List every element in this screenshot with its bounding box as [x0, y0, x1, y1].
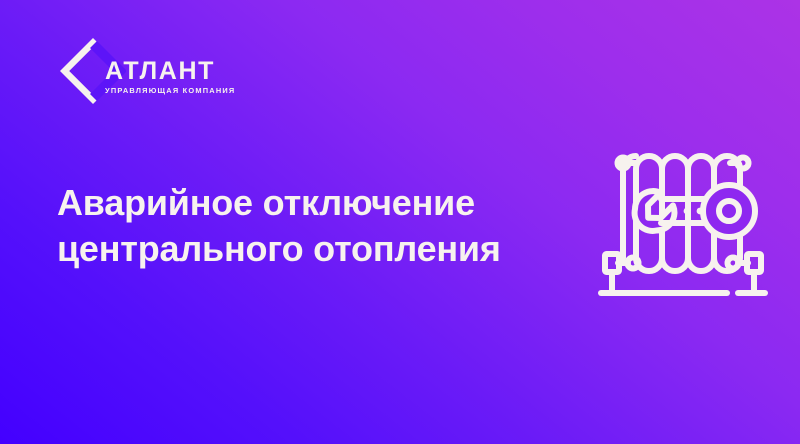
logo-subtitle: УПРАВЛЯЮЩАЯ КОМПАНИЯ	[105, 87, 265, 94]
heating-shutdown-banner: АТЛАНТ УПРАВЛЯЮЩАЯ КОМПАНИЯ Аварийное от…	[0, 0, 800, 444]
company-logo[interactable]: АТЛАНТ УПРАВЛЯЮЩАЯ КОМПАНИЯ	[57, 33, 257, 111]
logo-text-group: АТЛАНТ УПРАВЛЯЮЩАЯ КОМПАНИЯ	[105, 59, 265, 94]
logo-title: АТЛАНТ	[105, 59, 265, 84]
radiator-with-wrench-icon	[595, 133, 771, 309]
radiator-bottom-pipes	[601, 254, 765, 293]
headline-line-1: Аварийное отключение	[57, 180, 577, 226]
wrench-icon	[635, 185, 755, 237]
headline: Аварийное отключение центрального отопле…	[57, 180, 577, 272]
headline-line-2: центрального отопления	[57, 226, 577, 272]
